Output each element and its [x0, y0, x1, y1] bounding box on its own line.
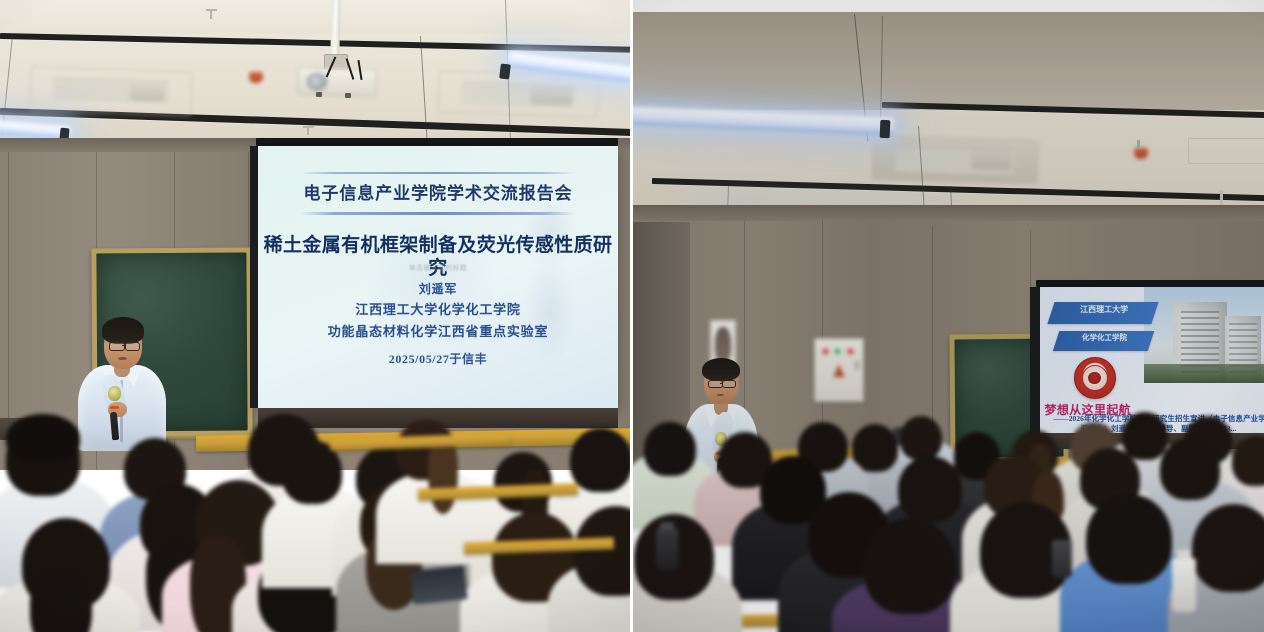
projector-pole [330, 0, 340, 56]
bottle-2-cap [1177, 550, 1191, 559]
ceiling-upper-right [632, 12, 1264, 110]
audience-head [1192, 504, 1264, 592]
tumbler-1-cap [660, 522, 674, 530]
projection-screen-right: 江西理工大学 化学化工学院 梦想从这里起航 ——2026年化学化工学院硕士研究生… [1040, 287, 1264, 433]
audience-head [644, 422, 696, 476]
ceiling-upper-strip [0, 0, 632, 34]
top-white-band [632, 0, 1264, 12]
screen-left-edge [250, 146, 258, 408]
screen-top-bar-right [1036, 280, 1264, 287]
photo-collage: 电子信息产业学院学术交流报告会 稀土金属有机框架制备及荧光传感性质研究 单击输入… [0, 0, 1264, 632]
ac-cassette-1 [29, 66, 192, 115]
audience-hair [6, 414, 80, 462]
slide-heading: 稀土金属有机框架制备及荧光传感性质研究 [258, 234, 618, 280]
audience-ponytail [428, 436, 458, 514]
slide-right: 江西理工大学 化学化工学院 梦想从这里起航 ——2026年化学化工学院硕士研究生… [1040, 287, 1264, 433]
audience-ponytail [30, 568, 92, 632]
slide-presenter: 刘遥军 [258, 282, 618, 297]
audience-right [632, 418, 1264, 632]
speaker-right-head [704, 362, 738, 404]
audience-head [898, 456, 962, 522]
college-ribbon: 化学化工学院 [1052, 331, 1154, 351]
smoke-detector-left [249, 72, 263, 83]
wall-vent-right [1188, 138, 1264, 164]
slide-date-place: 2025/05/27于信丰 [258, 352, 618, 367]
fire-alarm-panel[interactable] [814, 338, 864, 402]
slide-affiliation-2: 功能晶态材料化学江西省重点实验室 [258, 324, 618, 340]
audience-head [1232, 436, 1264, 486]
slide-placeholder-text: 单击输入您的标题 [258, 264, 618, 273]
speaker-left-head [104, 322, 142, 369]
projector-foot-2 [345, 93, 351, 98]
laptop-left [410, 565, 467, 604]
projection-screen-left: 电子信息产业学院学术交流报告会 稀土金属有机框架制备及荧光传感性质研究 单击输入… [258, 146, 618, 408]
tumbler-3 [1052, 540, 1072, 578]
audience-head [1122, 412, 1168, 460]
panel-divider [630, 0, 633, 632]
panel-led-red-2 [848, 349, 853, 354]
audience-head [900, 416, 942, 460]
audience-head [1160, 438, 1220, 500]
ceiling-hook-1-stem [210, 10, 212, 19]
title-rule-bottom [301, 212, 575, 215]
projector-foot-1 [316, 92, 322, 97]
slide-left: 电子信息产业学院学术交流报告会 稀土金属有机框架制备及荧光传感性质研究 单击输入… [258, 146, 618, 408]
light-tube-right-cap [499, 63, 511, 79]
screen-top-bar [256, 138, 618, 146]
right-photo-panel: 江西理工大学 化学化工学院 梦想从这里起航 ——2026年化学化工学院硕士研究生… [632, 0, 1264, 632]
audience-head [1086, 494, 1172, 584]
ceiling-hook-2-stem [307, 127, 309, 135]
bottle-2 [1172, 558, 1196, 612]
panel-slot [855, 360, 858, 370]
university-ribbon: 江西理工大学 [1048, 302, 1159, 324]
screen-left-edge-right [1030, 287, 1040, 437]
audience-left [0, 418, 632, 632]
left-photo-panel: 电子信息产业学院学术交流报告会 稀土金属有机框架制备及荧光传感性质研究 单击输入… [0, 0, 632, 632]
microphone-left-head [108, 386, 121, 401]
microphone-left-ring [110, 406, 119, 409]
audience-head [570, 428, 632, 492]
title-rule-top [301, 172, 575, 174]
panel-warning-icon [833, 364, 845, 378]
slide-title: 电子信息产业学院学术交流报告会 [258, 184, 618, 204]
smoke-detector-stem [1137, 140, 1140, 149]
slide-building-photo [1144, 287, 1264, 383]
tumbler-1 [656, 528, 678, 570]
ac-cassette-2 [437, 70, 598, 118]
slide-affiliation-1: 江西理工大学化学化工学院 [258, 302, 618, 318]
ac-cassette-right [871, 136, 1038, 185]
wall-top-shadow [632, 205, 1264, 221]
panel-led-green [835, 349, 840, 354]
university-emblem [1074, 357, 1116, 399]
light-tube-1-cap [880, 120, 891, 138]
smoke-detector-right [1134, 148, 1148, 159]
audience-head [864, 518, 956, 614]
projector-body [297, 67, 378, 97]
panel-led-red-1 [823, 349, 828, 354]
